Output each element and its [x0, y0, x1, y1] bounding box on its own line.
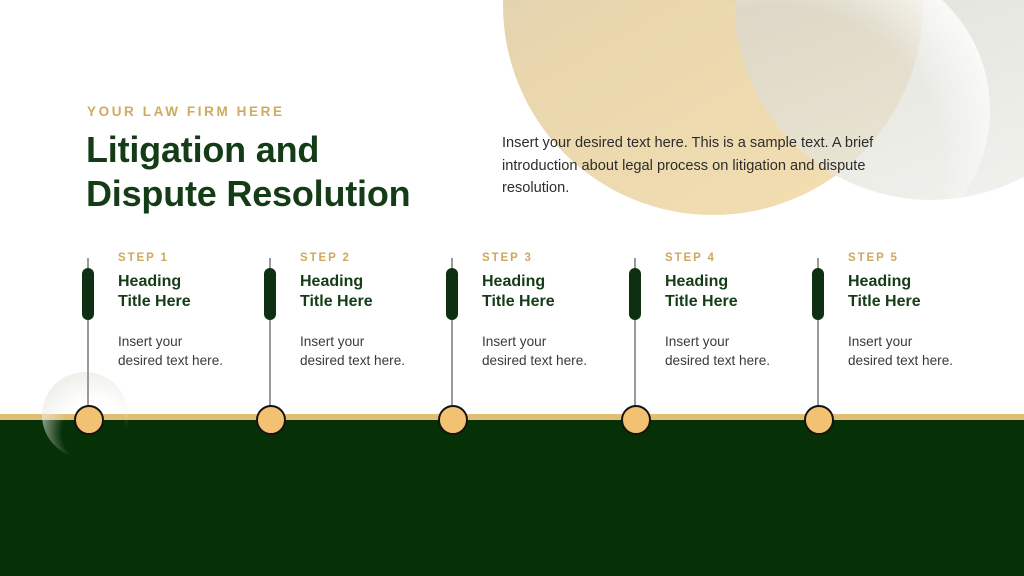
step-heading: Heading Title Here: [665, 272, 815, 312]
timeline-steps: STEP 1 Heading Title Here Insert your de…: [0, 0, 1024, 440]
step-label: STEP 4: [665, 252, 716, 264]
step-body-text: Insert your desired text here.: [848, 332, 993, 370]
step-marker-bar: [812, 268, 824, 320]
step-heading-line1: Heading: [665, 272, 815, 292]
step-heading-line2: Title Here: [848, 292, 998, 312]
step-body-line2: desired text here.: [665, 351, 810, 370]
timeline-dot-3[interactable]: [438, 405, 468, 435]
step-label: STEP 1: [118, 252, 169, 264]
footer-band: [0, 420, 1024, 576]
step-heading: Heading Title Here: [300, 272, 450, 312]
timeline-dot-5[interactable]: [804, 405, 834, 435]
step-heading-line1: Heading: [118, 272, 268, 292]
step-body-line1: Insert your: [300, 332, 445, 351]
step-body-text: Insert your desired text here.: [300, 332, 445, 370]
step-heading-line1: Heading: [300, 272, 450, 292]
step-body-text: Insert your desired text here.: [482, 332, 627, 370]
step-body-line2: desired text here.: [848, 351, 993, 370]
step-body-line1: Insert your: [665, 332, 810, 351]
step-heading-line2: Title Here: [300, 292, 450, 312]
timeline-dot-4[interactable]: [621, 405, 651, 435]
step-heading: Heading Title Here: [118, 272, 268, 312]
step-body-line1: Insert your: [482, 332, 627, 351]
timeline-dot-2[interactable]: [256, 405, 286, 435]
step-heading-line1: Heading: [482, 272, 632, 292]
step-marker-bar: [629, 268, 641, 320]
step-body-text: Insert your desired text here.: [665, 332, 810, 370]
step-label: STEP 2: [300, 252, 351, 264]
step-heading: Heading Title Here: [482, 272, 632, 312]
step-heading-line2: Title Here: [665, 292, 815, 312]
step-body-line1: Insert your: [848, 332, 993, 351]
step-heading-line2: Title Here: [118, 292, 268, 312]
slide-canvas: YOUR LAW FIRM HERE Litigation and Disput…: [0, 0, 1024, 576]
step-body-line1: Insert your: [118, 332, 263, 351]
step-heading-line2: Title Here: [482, 292, 632, 312]
step-body-line2: desired text here.: [300, 351, 445, 370]
step-heading: Heading Title Here: [848, 272, 998, 312]
step-body-line2: desired text here.: [482, 351, 627, 370]
timeline-dot-1[interactable]: [74, 405, 104, 435]
step-label: STEP 3: [482, 252, 533, 264]
step-body-text: Insert your desired text here.: [118, 332, 263, 370]
step-marker-bar: [264, 268, 276, 320]
step-heading-line1: Heading: [848, 272, 998, 292]
step-body-line2: desired text here.: [118, 351, 263, 370]
step-marker-bar: [82, 268, 94, 320]
step-marker-bar: [446, 268, 458, 320]
step-label: STEP 5: [848, 252, 899, 264]
